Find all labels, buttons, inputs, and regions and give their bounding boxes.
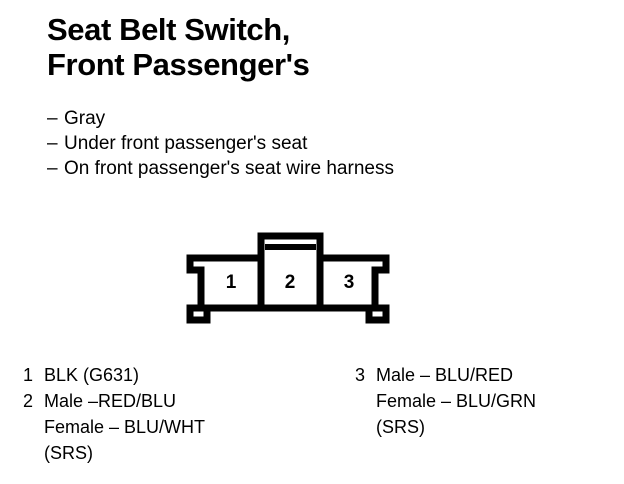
- pin-legend-lines: Male – BLU/RED Female – BLU/GRN (SRS): [376, 362, 536, 440]
- dash-bullet-icon: –: [47, 156, 64, 181]
- pin-legend-entry: 2 Male –RED/BLU Female – BLU/WHT (SRS): [23, 388, 323, 466]
- pin-number-1: 1: [226, 272, 237, 293]
- pin-legend-line: (SRS): [376, 414, 536, 440]
- pin-legend-index: 3: [355, 362, 376, 388]
- pin-number-2: 2: [285, 272, 296, 293]
- dash-bullet-icon: –: [47, 131, 64, 156]
- pin-legend-line: (SRS): [44, 440, 205, 466]
- pin-legend-entry: 3 Male – BLU/RED Female – BLU/GRN (SRS): [355, 362, 615, 440]
- pin-legend-lines: BLK (G631): [44, 362, 139, 388]
- pin-legend-right-column: 3 Male – BLU/RED Female – BLU/GRN (SRS): [355, 362, 615, 440]
- description-item-text: Under front passenger's seat: [64, 131, 307, 156]
- description-item: – Gray: [47, 106, 567, 131]
- description-item-text: Gray: [64, 106, 105, 131]
- dash-bullet-icon: –: [47, 106, 64, 131]
- pin-legend-index: 2: [23, 388, 44, 414]
- page-title-line-1: Seat Belt Switch,: [47, 12, 467, 47]
- pin-legend-entry: 1 BLK (G631): [23, 362, 323, 388]
- pin-legend-line: Female – BLU/GRN: [376, 388, 536, 414]
- page-title: Seat Belt Switch, Front Passenger's: [47, 12, 467, 82]
- pin-legend-index: 1: [23, 362, 44, 388]
- document-page: Seat Belt Switch, Front Passenger's – Gr…: [0, 0, 624, 484]
- pin-legend-line: Male –RED/BLU: [44, 388, 205, 414]
- page-title-line-2: Front Passenger's: [47, 47, 467, 82]
- description-item: – On front passenger's seat wire harness: [47, 156, 567, 181]
- pin-legend-line: Female – BLU/WHT: [44, 414, 205, 440]
- description-item-text: On front passenger's seat wire harness: [64, 156, 394, 181]
- pin-legend-lines: Male –RED/BLU Female – BLU/WHT (SRS): [44, 388, 205, 466]
- pin-legend-line: BLK (G631): [44, 365, 139, 385]
- pin-legend-left-column: 1 BLK (G631) 2 Male –RED/BLU Female – BL…: [23, 362, 323, 466]
- description-item: – Under front passenger's seat: [47, 131, 567, 156]
- pin-legend-line: Male – BLU/RED: [376, 362, 536, 388]
- pin-number-3: 3: [344, 272, 355, 293]
- description-list: – Gray – Under front passenger's seat – …: [47, 106, 567, 181]
- connector-diagram: 1 2 3: [183, 230, 393, 325]
